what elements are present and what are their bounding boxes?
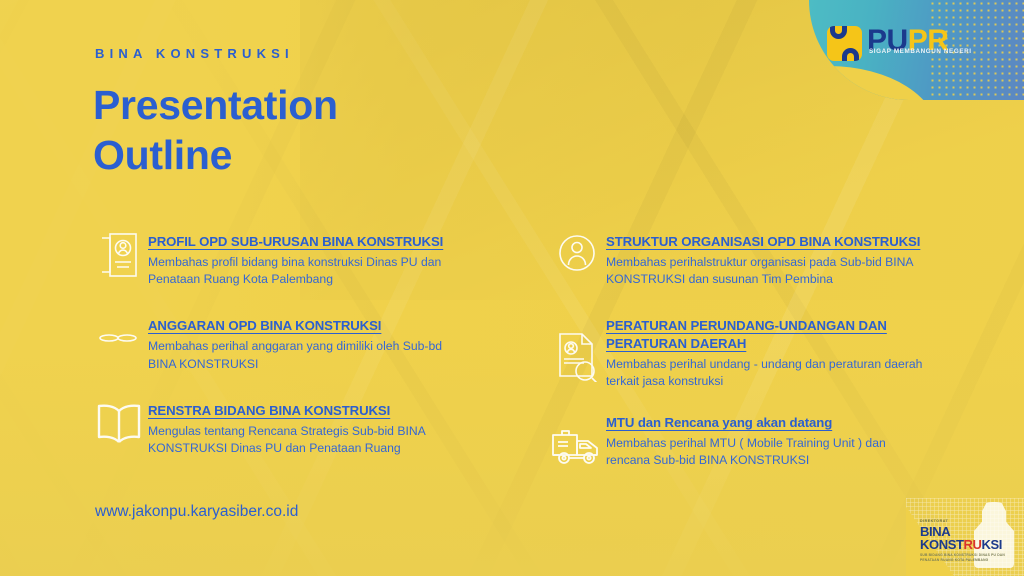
outline-item-description: Membahas profil bidang bina konstruksi D… — [148, 254, 470, 289]
yellow-swoosh-shape — [809, 66, 939, 100]
pupr-tagline: SIGAP MEMBANGUN NEGERI — [869, 49, 972, 55]
person-circle-icon — [548, 232, 606, 274]
pupr-logo: PUPR SIGAP MEMBANGUN NEGERI — [827, 26, 948, 61]
outline-item-mtu[interactable]: MTU dan Rencana yang akan datang Membaha… — [548, 413, 928, 469]
presentation-slide: PUPR SIGAP MEMBANGUN NEGERI BINA KONSTRU… — [0, 0, 1024, 576]
page-title: Presentation Outline — [93, 80, 338, 180]
badge-konst: KONST — [920, 537, 964, 552]
document-review-icon — [548, 316, 606, 382]
outline-item-description: Membahas perihal MTU ( Mobile Training U… — [606, 435, 928, 470]
pupr-emblem-icon — [827, 26, 862, 61]
outline-item-description: Membahas perihal anggaran yang dimiliki … — [148, 338, 470, 373]
bina-konstruksi-badge: DIREKTORAT BINA KONSTRUKSI SUB BIDANG BI… — [906, 498, 1024, 576]
outline-item-description: Mengulas tentang Rencana Strategis Sub-b… — [148, 423, 470, 458]
outline-item-peraturan[interactable]: PERATURAN PERUNDANG-UNDANGAN DAN PERATUR… — [548, 316, 928, 390]
outline-item-title[interactable]: MTU dan Rencana yang akan datang — [606, 414, 928, 432]
outline-item-description: Membahas perihalstruktur organisasi pada… — [606, 254, 928, 289]
page-title-line1: Presentation — [93, 80, 338, 130]
outline-item-title[interactable]: ANGGARAN OPD BINA KONSTRUKSI — [148, 317, 470, 335]
badge-ru-highlight: RU — [964, 537, 982, 552]
outline-item-anggaran[interactable]: ANGGARAN OPD BINA KONSTRUKSI Membahas pe… — [90, 316, 470, 372]
outline-left-column: PROFIL OPD SUB-URUSAN BINA KONSTRUKSI Me… — [90, 232, 470, 457]
badge-line-konstruksi: KONSTRUKSI — [920, 538, 1006, 551]
badge-line-bina: BINA — [920, 525, 1006, 538]
outline-item-title[interactable]: STRUKTUR ORGANISASI OPD BINA KONSTRUKSI — [606, 233, 928, 251]
outline-item-title[interactable]: RENSTRA BIDANG BINA KONSTRUKSI — [148, 402, 470, 420]
website-url[interactable]: www.jakonpu.karyasiber.co.id — [95, 503, 298, 521]
badge-subtext: SUB BIDANG BINA KONSTRUKSI DINAS PU DAN … — [920, 553, 1006, 563]
outline-item-title[interactable]: PERATURAN PERUNDANG-UNDANGAN DAN PERATUR… — [606, 317, 928, 353]
outline-right-column: STRUKTUR ORGANISASI OPD BINA KONSTRUKSI … — [548, 232, 928, 469]
outline-item-renstra[interactable]: RENSTRA BIDANG BINA KONSTRUKSI Mengulas … — [90, 401, 470, 457]
page-title-line2: Outline — [93, 130, 338, 180]
outline-item-description: Membahas perihal undang - undang dan per… — [606, 356, 928, 391]
open-book-icon — [90, 401, 148, 447]
delivery-truck-icon — [548, 413, 606, 467]
pupr-logo-banner: PUPR SIGAP MEMBANGUN NEGERI — [809, 0, 1024, 100]
id-card-profile-icon — [90, 232, 148, 278]
slide-eyebrow: BINA KONSTRUKSI — [95, 46, 294, 61]
coins-budget-icon — [90, 316, 148, 364]
outline-item-title[interactable]: PROFIL OPD SUB-URUSAN BINA KONSTRUKSI — [148, 233, 470, 251]
outline-item-struktur[interactable]: STRUKTUR ORGANISASI OPD BINA KONSTRUKSI … — [548, 232, 928, 288]
badge-ksi: KSI — [982, 537, 1002, 552]
outline-item-profil[interactable]: PROFIL OPD SUB-URUSAN BINA KONSTRUKSI Me… — [90, 232, 470, 288]
